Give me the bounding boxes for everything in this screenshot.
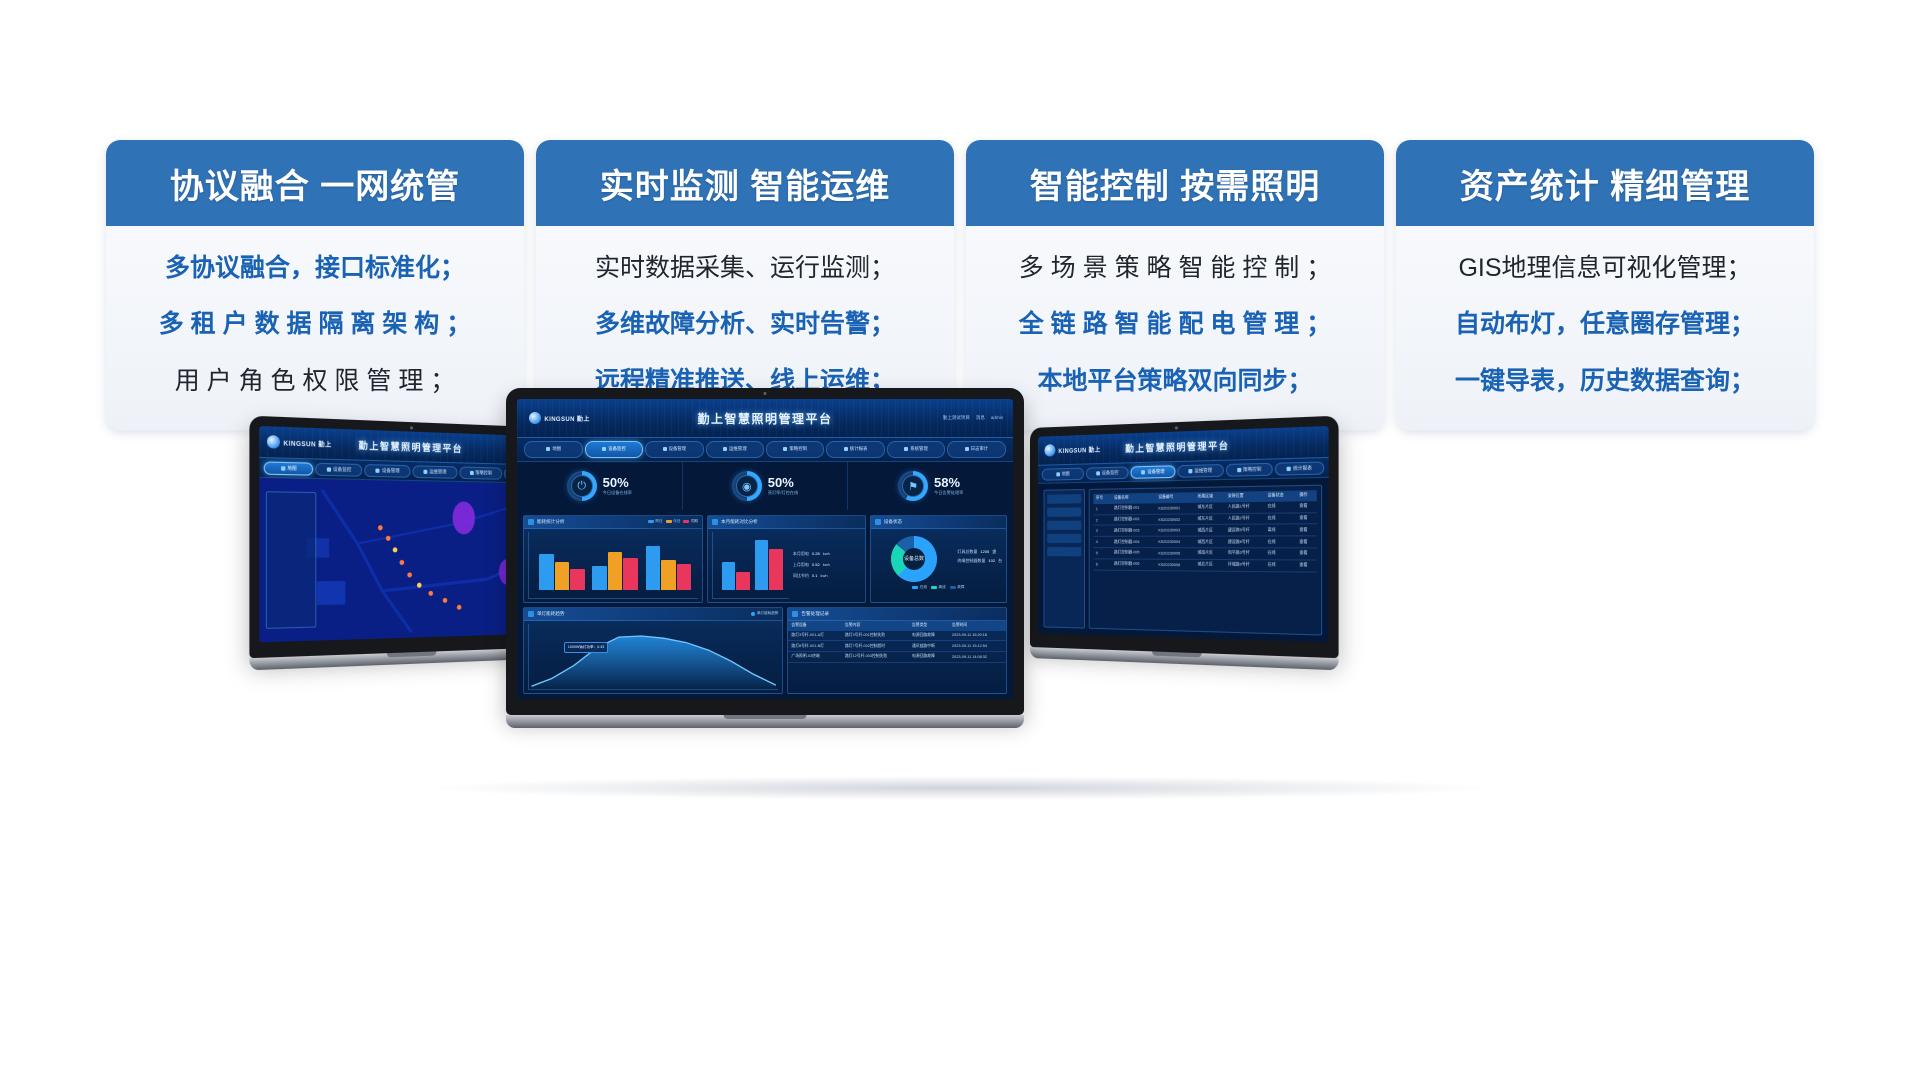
floor-shadow — [420, 776, 1500, 800]
legend-item: 昨日 — [648, 519, 663, 524]
cell: 人民路2号杆 — [1225, 513, 1265, 525]
feature-card-4-line-2: 自动布灯，任意圈存管理； — [1414, 306, 1796, 344]
nav-label-device: 设备管理 — [669, 446, 687, 452]
table-nav-label-3: 运维管理 — [1194, 467, 1212, 474]
table-nav-label-2: 设备管理 — [1147, 468, 1164, 475]
sidebar-item[interactable] — [1047, 547, 1081, 556]
bar — [592, 566, 607, 589]
map-nav-item-0[interactable]: 地图 — [264, 461, 313, 475]
panel-alarm-table-title: 告警处理记录 — [801, 611, 829, 617]
map-nav-item-2[interactable]: 设备管理 — [365, 464, 411, 478]
alarm-cell: 通讯链路中断 — [909, 641, 949, 652]
device-value: 1205 — [980, 549, 989, 555]
trend-tooltip: 1000W钠灯功率：0.43 — [564, 642, 608, 653]
device-row-1: 终端控制器数量 102 台 — [957, 558, 1002, 564]
legend-item: 离线 — [931, 585, 946, 590]
account-label[interactable]: admin — [991, 415, 1003, 421]
col-2: 设备编号 — [1155, 492, 1194, 503]
compare-name: 同比节约 — [793, 573, 809, 579]
cell: 城东片区 — [1195, 502, 1225, 513]
compare-row-2: 同比节约 0.1 kwh — [793, 573, 861, 579]
bar-group-b — [592, 532, 638, 590]
table-nav-item-5[interactable]: 统计报表 — [1275, 461, 1324, 475]
map-nav-label-3: 运维管理 — [429, 469, 446, 476]
feature-cards: 协议融合 一网统管 多协议融合，接口标准化； 多 租 户 数 据 隔 离 架 构… — [0, 0, 1920, 430]
legend-swatch — [666, 520, 672, 523]
bar — [755, 540, 769, 589]
device-donut-wrap: 设备总数 灯具总数量 1205 盏 — [875, 532, 1002, 582]
compare-unit: kwh — [820, 573, 827, 578]
sidebar-item[interactable] — [1047, 494, 1081, 504]
ops-icon — [1188, 469, 1192, 473]
panel-trend: 单灯能耗趋势 单灯能耗趋势 — [523, 607, 783, 695]
cell: KS20230003 — [1155, 525, 1194, 536]
panel-icon — [792, 611, 798, 617]
table-nav-label-1: 设备监控 — [1102, 470, 1119, 477]
map-icon — [546, 447, 550, 451]
cell: 在线 — [1264, 559, 1296, 571]
bar — [539, 554, 554, 590]
cell: 路灯控制器-006 — [1111, 559, 1155, 570]
feature-card-2-line-2: 多维故障分析、实时告警； — [554, 306, 936, 344]
map-nav-item-3[interactable]: 运维管理 — [413, 465, 458, 479]
device-icon — [663, 447, 667, 451]
legend-label: 在线 — [920, 585, 927, 590]
device-list: 灯具总数量 1205 盏 终端控制器数量 102 — [957, 549, 1002, 564]
legend-label: 离线 — [939, 585, 946, 590]
bar-group-2 — [755, 532, 783, 590]
feature-card-3-line-1: 多 场 景 策 略 智 能 控 制 ； — [984, 250, 1366, 288]
panel-alarm-table-body: 告警设备 告警内容 告警类型 告警时间 路灯3号杆-001-A — [788, 621, 1006, 694]
nav-item-strategy[interactable]: 策略控制 — [766, 441, 824, 458]
system-icon — [904, 447, 908, 451]
col-5: 设备状态 — [1264, 490, 1296, 501]
feature-card-4-header: 资产统计 精细管理 — [1396, 140, 1814, 226]
main-dashboard: KINGSUN 勤上 勤上智慧照明管理平台 勤上测试项目 消息 admin 地图 — [517, 399, 1013, 699]
laptop-center-base — [506, 715, 1024, 728]
panel-icon — [528, 519, 534, 525]
table-content-wrap: 序号 设备名称 设备编号 所属区域 安装位置 设备状态 操作 — [1038, 478, 1329, 642]
cell: KS20230005 — [1155, 548, 1194, 559]
alarm-cell: 电源回路故障 — [909, 631, 949, 641]
feature-card-3-header: 智能控制 按需照明 — [966, 140, 1384, 226]
page-root: 协议融合 一网统管 多协议融合，接口标准化； 多 租 户 数 据 隔 离 架 构… — [0, 0, 1920, 1080]
kpi-lamp-text: 50% 亮灯率/灯控在线 — [768, 476, 798, 496]
bar — [722, 562, 736, 590]
alarm-cell: 路灯7号杆-002控制超时 — [842, 641, 909, 652]
panel-energy-header: 能耗统计分析 昨日 今日 同期 — [524, 516, 702, 529]
bar — [608, 552, 623, 590]
feature-card-3-title: 智能控制 按需照明 — [1030, 159, 1320, 208]
legend-swatch — [648, 520, 654, 523]
cell: 5 — [1093, 548, 1111, 559]
table-brand: KINGSUN 勤上 — [1045, 443, 1101, 457]
cell: 城西片区 — [1195, 525, 1225, 537]
cell: 路灯控制器-002 — [1111, 514, 1155, 526]
device-row-0: 灯具总数量 1205 盏 — [957, 549, 1002, 555]
nav-item-map[interactable]: 地图 — [524, 441, 582, 458]
table-sidebar[interactable] — [1043, 489, 1084, 629]
strategy-icon — [470, 471, 474, 475]
brand-logo-icon — [1045, 444, 1056, 456]
table-row[interactable]: 6 路灯控制器-006 KS20230006 城北片区 环城路9号杆 在线 查看 — [1093, 559, 1317, 572]
legend-label: 昨日 — [655, 519, 662, 524]
cell: 1 — [1093, 504, 1111, 515]
compare-bar-chart — [712, 532, 789, 599]
feature-card-1-header: 协议融合 一网统管 — [106, 140, 524, 226]
cell: 人民路1号杆 — [1225, 502, 1265, 514]
dashboard-panels: 能耗统计分析 昨日 今日 同期 — [517, 510, 1013, 699]
legend-label: 单灯能耗趋势 — [757, 611, 779, 616]
panel-device-body: 设备总数 灯具总数量 1205 盏 — [871, 529, 1006, 602]
cell: 和平路3号杆 — [1225, 548, 1265, 560]
trend-svg — [529, 624, 778, 690]
kpi-alarm-label: 今日告警处理率 — [934, 490, 963, 496]
legend-item: 今日 — [666, 519, 681, 524]
cell: 城南片区 — [1195, 548, 1225, 560]
compare-value: 0.28 — [812, 551, 820, 556]
alarm-row[interactable]: 广场照明-03终端 路灯12号杆-003控制失败 电源回路故障 2023-09-… — [788, 652, 1006, 663]
legend-swatch — [683, 520, 689, 523]
sidebar-item[interactable] — [1047, 534, 1081, 543]
panel-alarm-table-header: 告警处理记录 — [788, 608, 1006, 621]
col-1: 设备名称 — [1111, 493, 1155, 504]
map-side-panel[interactable] — [266, 491, 316, 629]
cell: 路灯控制器-004 — [1111, 536, 1155, 547]
nav-item-report[interactable]: 统计报表 — [826, 441, 884, 458]
power-icon: ⏻ — [567, 471, 597, 501]
dashboard-title: 勤上智慧照明管理平台 — [697, 410, 832, 427]
laptop-center: KINGSUN 勤上 勤上智慧照明管理平台 勤上测试项目 消息 admin 地图 — [506, 388, 1024, 728]
device-name: 灯具总数量 — [957, 549, 977, 555]
cell: 在线 — [1264, 548, 1296, 560]
kpi-online-value: 50% — [603, 476, 632, 490]
chart-icon — [1287, 466, 1291, 470]
col-0: 序号 — [1093, 493, 1111, 504]
kpi-alarm-text: 58% 今日告警处理率 — [934, 476, 963, 496]
cell-action[interactable]: 查看 — [1296, 524, 1317, 536]
legend-item: 故障 — [950, 585, 965, 590]
col-3: 所属区域 — [1195, 492, 1225, 503]
panel-row-1: 能耗统计分析 昨日 今日 同期 — [523, 515, 1007, 603]
compare-unit: kwh — [823, 562, 830, 567]
legend-swatch — [751, 612, 755, 616]
legend-item: 在线 — [912, 585, 927, 590]
bar-group-c — [646, 532, 692, 590]
device-icon — [1142, 470, 1146, 474]
panel-energy-bar: 能耗统计分析 昨日 今日 同期 — [523, 515, 703, 603]
legend-item: 单灯能耗趋势 — [751, 611, 778, 616]
cell-action[interactable]: 查看 — [1296, 560, 1317, 572]
panel-icon — [712, 519, 718, 525]
log-icon — [965, 447, 969, 451]
table-nav-item-3[interactable]: 运维管理 — [1177, 464, 1223, 478]
legend-label: 故障 — [957, 585, 964, 590]
nav-item-device[interactable]: 设备管理 — [645, 441, 703, 458]
panel-compare-header: 本月能耗对比分析 — [708, 516, 865, 529]
cell: 4 — [1093, 537, 1111, 548]
legend-swatch — [912, 586, 918, 589]
brand-logo-icon — [267, 435, 280, 449]
alarm-cell: 2023-09-11 16:20:18 — [949, 631, 1006, 641]
cell: 6 — [1093, 559, 1111, 570]
table-nav-label-5: 统计报表 — [1293, 465, 1312, 472]
panel-energy-title: 能耗统计分析 — [537, 519, 565, 525]
device-unit: 台 — [998, 558, 1002, 564]
cell: 建设路8号杆 — [1225, 536, 1265, 548]
map-icon — [281, 466, 285, 470]
feature-card-4-line-1: GIS地理信息可视化管理； — [1414, 250, 1796, 288]
cell-action[interactable]: 查看 — [1296, 501, 1317, 513]
panel-alarm-table: 告警处理记录 告警设备 告警内容 告警类型 — [787, 607, 1007, 695]
alarm-cell: 路灯8号杆-001-B灯 — [788, 641, 842, 652]
panel-icon — [875, 519, 881, 525]
bar-group-a — [539, 532, 585, 590]
laptop-right: KINGSUN 勤上 勤上智慧照明管理平台 地图 设备监控 设备管理 运维管理 … — [1030, 416, 1339, 671]
nav-item-log[interactable]: 日志审计 — [947, 441, 1005, 458]
gauge-online: ⏻ — [567, 471, 597, 501]
panel-energy-body — [524, 529, 702, 602]
camera-icon — [764, 392, 767, 395]
kpi-lamp-rate[interactable]: ◉ 50% 亮灯率/灯控在线 — [683, 462, 849, 510]
feature-card-4-title: 资产统计 精细管理 — [1460, 159, 1750, 208]
bar — [661, 560, 676, 590]
project-selector[interactable]: 勤上测试项目 — [943, 415, 970, 421]
compare-name: 本月用电 — [793, 551, 809, 557]
panel-trend-header: 单灯能耗趋势 单灯能耗趋势 — [524, 608, 782, 621]
camera-icon — [1175, 426, 1178, 429]
table-row[interactable]: 3 路灯控制器-003 KS20230003 城西片区 建设路5号杆 离线 查看 — [1093, 524, 1317, 536]
alarm-cell: 广场照明-03终端 — [788, 652, 842, 663]
feature-card-3-line-2: 全 链 路 智 能 配 电 管 理 ； — [984, 306, 1366, 344]
monitor-icon — [1096, 471, 1100, 475]
panel-trend-legend: 单灯能耗趋势 — [751, 611, 778, 616]
nav-item-system[interactable]: 系统管理 — [887, 441, 945, 458]
table-nav-label-4: 策略控制 — [1243, 466, 1261, 473]
cell: 路灯控制器-005 — [1111, 548, 1155, 559]
compare-row-0: 本月用电 0.28 kwh — [793, 551, 861, 557]
cell: 城西片区 — [1195, 536, 1225, 548]
kpi-lamp-label: 亮灯率/灯控在线 — [768, 490, 798, 496]
compare-value: 0.52 — [812, 562, 820, 567]
table-dashboard: KINGSUN 勤上 勤上智慧照明管理平台 地图 设备监控 设备管理 运维管理 … — [1038, 426, 1329, 642]
alarm-row[interactable]: 路灯8号杆-001-B灯 路灯7号杆-002控制超时 通讯链路中断 2023-0… — [788, 641, 1006, 652]
map-brand: KINGSUN 勤上 — [267, 435, 331, 450]
bar — [570, 569, 585, 589]
dashboard-nav[interactable]: 地图 设备监控 设备管理 运维管理 策略控制 统计报表 系统管理 日志审计 — [517, 438, 1013, 462]
col-4: 安装位置 — [1225, 491, 1265, 502]
kpi-row: ⏻ 50% 今日设备在线率 ◉ 50% 亮灯率/灯控在线 — [517, 462, 1013, 510]
compare-values: 本月用电 0.28 kwh 上月用电 0.52 kwh — [793, 532, 861, 599]
device-icon — [376, 468, 380, 472]
cell: 2 — [1093, 514, 1111, 525]
nav-label-report: 统计报表 — [850, 446, 868, 452]
monitor-icon — [327, 467, 331, 471]
feature-card-2-line-1: 实时数据采集、运行监测； — [554, 250, 936, 288]
dashboard-brand: KINGSUN 勤上 — [529, 412, 589, 424]
feature-card-1-title: 协议融合 一网统管 — [170, 159, 460, 208]
legend-swatch — [931, 586, 937, 589]
legend-label: 今日 — [673, 519, 680, 524]
lamp-icon: ◉ — [732, 471, 762, 501]
nav-label-map: 地图 — [552, 446, 561, 452]
table-nav-item-0[interactable]: 地图 — [1042, 467, 1084, 480]
alarm-cell: 2023-09-11 15:12:54 — [949, 641, 1006, 652]
cell: 在线 — [1264, 501, 1296, 513]
kpi-lamp-value: 50% — [768, 476, 798, 490]
cell: 环城路9号杆 — [1225, 559, 1265, 571]
alarm-cell: 2023-09-11 14:08:32 — [949, 652, 1006, 663]
alarm-col-0: 告警设备 — [788, 621, 842, 631]
panel-compare-body: 本月用电 0.28 kwh 上月用电 0.52 kwh — [708, 529, 865, 602]
laptop-center-lid: KINGSUN 勤上 勤上智慧照明管理平台 勤上测试项目 消息 admin 地图 — [506, 388, 1024, 715]
map-nav-item-4[interactable]: 策略控制 — [459, 466, 502, 479]
donut-legend: 在线 离线 故障 — [875, 585, 1002, 590]
camera-icon — [410, 426, 413, 429]
bar — [769, 549, 783, 589]
panel-icon — [528, 611, 534, 617]
panel-device-header: 设备状态 — [871, 516, 1006, 529]
laptop-right-lid: KINGSUN 勤上 勤上智慧照明管理平台 地图 设备监控 设备管理 运维管理 … — [1030, 416, 1339, 659]
nav-item-ops[interactable]: 运维管理 — [706, 441, 764, 458]
nav-item-monitor[interactable]: 设备监控 — [585, 441, 643, 458]
brand-name: KINGSUN 勤上 — [544, 414, 589, 423]
bar-group-1 — [722, 532, 750, 590]
table-nav-item-4[interactable]: 策略控制 — [1225, 462, 1272, 476]
map-title: 勤上智慧照明管理平台 — [359, 438, 463, 455]
strategy-icon — [1237, 468, 1241, 472]
panel-month-compare: 本月能耗对比分析 — [707, 515, 866, 603]
donut-center-label: 设备总数 — [891, 536, 937, 582]
panel-device-title: 设备状态 — [884, 519, 902, 525]
cell-action[interactable]: 查看 — [1296, 548, 1317, 560]
compare-value: 0.1 — [812, 573, 818, 578]
gauge-alarm: ⚑ — [898, 471, 928, 501]
dashboard-header: KINGSUN 勤上 勤上智慧照明管理平台 勤上测试项目 消息 admin — [517, 399, 1013, 438]
sidebar-item[interactable] — [1047, 507, 1081, 516]
cell: 城东片区 — [1195, 513, 1225, 525]
map-nav-label-1: 设备监控 — [333, 466, 351, 473]
bar — [555, 562, 570, 590]
device-table-panel: 序号 设备名称 设备编号 所属区域 安装位置 设备状态 操作 — [1088, 484, 1322, 635]
cell: 路灯控制器-003 — [1111, 525, 1155, 536]
nav-label-system: 系统管理 — [910, 446, 928, 452]
table-layout: 序号 设备名称 设备编号 所属区域 安装位置 设备状态 操作 — [1038, 478, 1329, 642]
laptop-group: KINGSUN 勤上 勤上智慧照明管理平台 地图 设备监控 设备管理 运维管理 … — [0, 380, 1920, 800]
alarm-icon: ⚑ — [898, 471, 928, 501]
cell-action[interactable]: 查看 — [1296, 536, 1317, 548]
monitor-icon — [602, 447, 606, 451]
trackpad-notch — [1152, 651, 1201, 657]
table-nav-item-2[interactable]: 设备管理 — [1131, 465, 1176, 479]
alarm-cell: 路灯3号杆-001控制失败 — [842, 631, 909, 641]
cell: KS20230001 — [1155, 503, 1194, 514]
cell: 在线 — [1264, 536, 1296, 548]
kpi-online-text: 50% 今日设备在线率 — [603, 476, 632, 496]
cell: 建设路5号杆 — [1225, 525, 1265, 537]
energy-bar-chart — [528, 532, 698, 599]
cell: KS20230002 — [1155, 514, 1194, 526]
chart-icon — [844, 447, 848, 451]
laptop-right-screen[interactable]: KINGSUN 勤上 勤上智慧照明管理平台 地图 设备监控 设备管理 运维管理 … — [1038, 426, 1329, 642]
cell: 路灯控制器-001 — [1111, 503, 1155, 514]
kpi-alarm-value: 58% — [934, 476, 963, 490]
panel-compare-title: 本月能耗对比分析 — [721, 519, 758, 525]
bar — [736, 572, 750, 589]
map-nav-item-1[interactable]: 设备监控 — [315, 462, 362, 476]
cell: 在线 — [1264, 513, 1296, 525]
trackpad-notch — [387, 651, 436, 657]
map-nav-label-0: 地图 — [287, 465, 296, 472]
device-status-donut: 设备总数 — [891, 536, 937, 582]
kpi-alarm-rate[interactable]: ⚑ 58% 今日告警处理率 — [848, 462, 1013, 510]
table-nav-label-0: 地图 — [1062, 471, 1070, 477]
panel-energy-legend: 昨日 今日 同期 — [648, 519, 698, 524]
col-6: 操作 — [1296, 490, 1317, 501]
laptop-center-screen[interactable]: KINGSUN 勤上 勤上智慧照明管理平台 勤上测试项目 消息 admin 地图 — [517, 399, 1013, 699]
panel-row-2: 单灯能耗趋势 单灯能耗趋势 — [523, 607, 1007, 695]
ops-icon — [723, 447, 727, 451]
cell-action[interactable]: 查看 — [1296, 512, 1317, 524]
alarm-cell: 电源回路故障 — [909, 652, 949, 663]
feature-card-2-header: 实时监测 智能运维 — [536, 140, 954, 226]
compare-row-1: 上月用电 0.52 kwh — [793, 562, 861, 568]
table-brand-name: KINGSUN 勤上 — [1058, 444, 1100, 455]
table-row[interactable]: 4 路灯控制器-004 KS20230004 城西片区 建设路8号杆 在线 查看 — [1093, 536, 1317, 548]
cell: 离线 — [1264, 524, 1296, 536]
device-unit: 盏 — [992, 549, 996, 555]
panel-device-status: 设备状态 设备总数 — [870, 515, 1007, 603]
nav-label-strategy: 策略控制 — [789, 446, 807, 452]
compare-name: 上月用电 — [793, 562, 809, 568]
cell: KS20230006 — [1155, 559, 1194, 571]
alarm-cell: 路灯12号杆-003控制失败 — [842, 652, 909, 663]
feature-card-2-title: 实时监测 智能运维 — [600, 159, 890, 208]
compare-unit: kwh — [823, 551, 830, 556]
feature-card-1-line-2: 多 租 户 数 据 隔 离 架 构 ； — [124, 306, 506, 344]
nav-label-monitor: 设备监控 — [608, 446, 626, 452]
kpi-online-label: 今日设备在线率 — [603, 490, 632, 496]
strategy-icon — [783, 447, 787, 451]
notify-label[interactable]: 消息 — [976, 415, 985, 421]
cell: 3 — [1093, 525, 1111, 536]
legend-item: 同期 — [683, 519, 698, 524]
alarm-row[interactable]: 路灯3号杆-001-A灯 路灯3号杆-001控制失败 电源回路故障 2023-0… — [788, 631, 1006, 641]
table-nav-item-1[interactable]: 设备监控 — [1086, 466, 1129, 479]
bar — [646, 546, 661, 589]
legend-label: 同期 — [691, 519, 698, 524]
dashboard-user-area[interactable]: 勤上测试项目 消息 admin — [943, 415, 1003, 421]
device-value: 102 — [988, 558, 995, 564]
trackpad-notch — [724, 715, 807, 719]
bar — [623, 558, 638, 590]
gauge-lamp: ◉ — [732, 471, 762, 501]
map-nav-label-2: 设备管理 — [382, 467, 400, 474]
panel-trend-body: 1000W钠灯功率：0.43 — [524, 621, 782, 694]
panel-trend-title: 单灯能耗趋势 — [537, 611, 565, 617]
alarm-col-2: 告警类型 — [909, 621, 949, 631]
ops-icon — [423, 469, 427, 473]
alarm-table: 告警设备 告警内容 告警类型 告警时间 路灯3号杆-001-A — [788, 621, 1006, 663]
feature-card-1-line-1: 多协议融合，接口标准化； — [124, 250, 506, 288]
device-name: 终端控制器数量 — [957, 558, 985, 564]
alarm-cell: 路灯3号杆-001-A灯 — [788, 631, 842, 641]
kpi-online-rate[interactable]: ⏻ 50% 今日设备在线率 — [517, 462, 683, 510]
map-brand-name: KINGSUN 勤上 — [284, 437, 332, 448]
cell: KS20230004 — [1155, 536, 1194, 547]
alarm-col-3: 告警时间 — [949, 621, 1006, 631]
sidebar-item[interactable] — [1047, 520, 1081, 529]
